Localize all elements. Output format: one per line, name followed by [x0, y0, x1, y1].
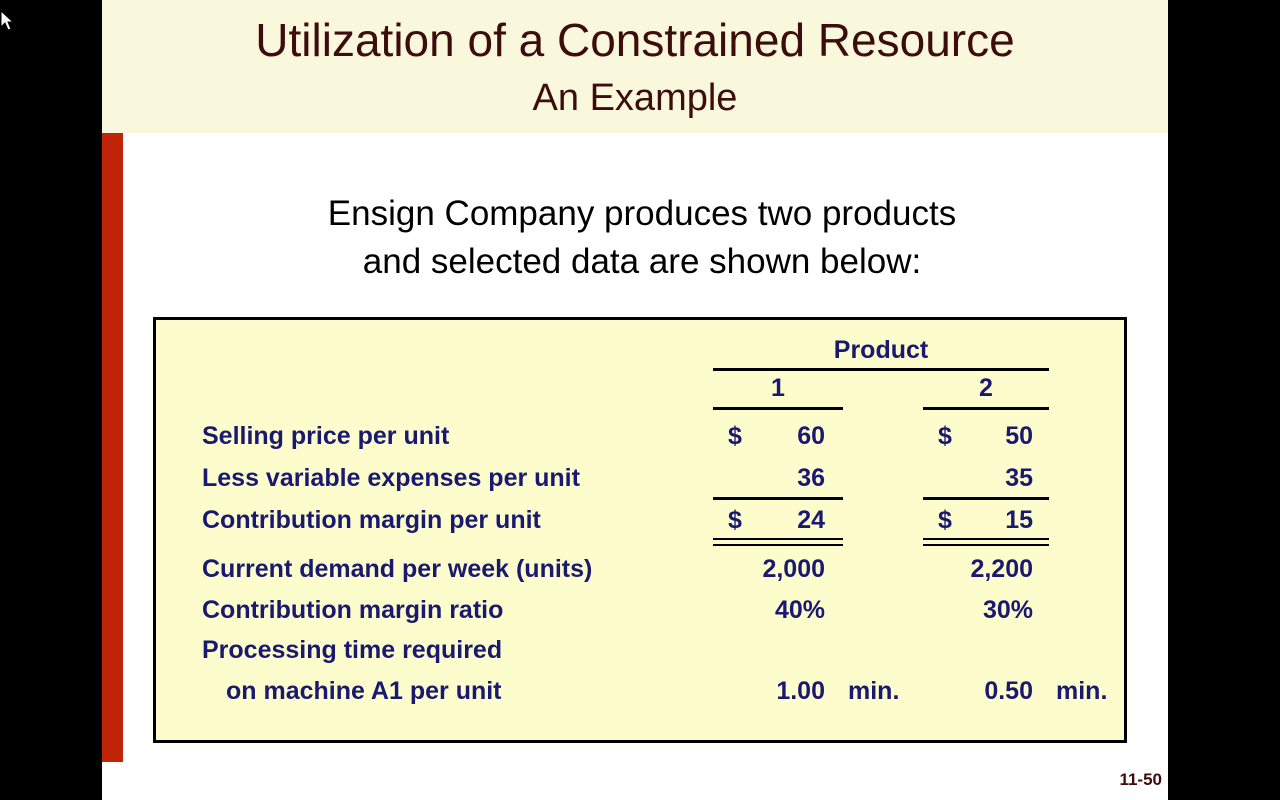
rule-above-contribution-margin-1 — [713, 497, 843, 500]
slide-title-primary: Utilization of a Constrained Resource — [102, 14, 1168, 66]
rule-under-column-1 — [713, 407, 843, 410]
value-row3-product1: 24 — [665, 506, 825, 535]
value-row5-product1: 40% — [665, 596, 825, 625]
rule-under-column-2 — [923, 407, 1049, 410]
value-row2-product1: 36 — [665, 464, 825, 493]
value-row5-product2: 30% — [873, 596, 1033, 625]
intro-line-1: Ensign Company produces two products — [142, 190, 1142, 238]
value-row1-product2: 50 — [873, 422, 1033, 451]
intro-line-2: and selected data are shown below: — [142, 238, 1142, 286]
column-header-product-2: 2 — [923, 374, 1049, 403]
mouse-cursor-icon — [0, 10, 16, 34]
row-label-contribution-margin-ratio: Contribution margin ratio — [202, 596, 503, 625]
screen-backdrop: Utilization of a Constrained Resource An… — [0, 0, 1280, 800]
row-label-current-demand: Current demand per week (units) — [202, 555, 592, 584]
row-label-processing-time-required: Processing time required — [202, 636, 502, 665]
value-row7-product1: 1.00 — [665, 677, 825, 706]
left-accent-bar — [102, 133, 123, 762]
value-row1-product1: 60 — [665, 422, 825, 451]
row-label-on-machine-a1: on machine A1 per unit — [226, 677, 502, 706]
value-row2-product2: 35 — [873, 464, 1033, 493]
value-row3-product2: 15 — [873, 506, 1033, 535]
row-label-contribution-margin-per-unit: Contribution margin per unit — [202, 506, 541, 535]
column-header-product-1: 1 — [713, 374, 843, 403]
rule-above-contribution-margin-2 — [923, 497, 1049, 500]
row-label-less-variable-expenses: Less variable expenses per unit — [202, 464, 580, 493]
slide-page-number: 11-50 — [1002, 770, 1162, 790]
data-table-panel: Product 1 2 Selling price per unit $ 60 … — [153, 317, 1127, 743]
value-row4-product1: 2,000 — [665, 555, 825, 584]
double-rule-top-1 — [713, 538, 843, 540]
slide-title-subtitle: An Example — [102, 76, 1168, 120]
slide-title-band: Utilization of a Constrained Resource An… — [102, 0, 1168, 133]
value-row7-product2: 0.50 — [873, 677, 1033, 706]
double-rule-top-2 — [923, 538, 1049, 540]
slide-canvas: Utilization of a Constrained Resource An… — [102, 0, 1168, 800]
table-group-header: Product — [713, 336, 1049, 365]
double-rule-bottom-1 — [713, 544, 843, 546]
row-label-selling-price: Selling price per unit — [202, 422, 449, 451]
intro-paragraph: Ensign Company produces two products and… — [142, 190, 1142, 286]
unit-row7-product2: min. — [1056, 677, 1107, 706]
rule-under-group-header — [713, 368, 1049, 371]
value-row4-product2: 2,200 — [873, 555, 1033, 584]
product-data-table: Product 1 2 Selling price per unit $ 60 … — [156, 320, 1124, 740]
double-rule-bottom-2 — [923, 544, 1049, 546]
